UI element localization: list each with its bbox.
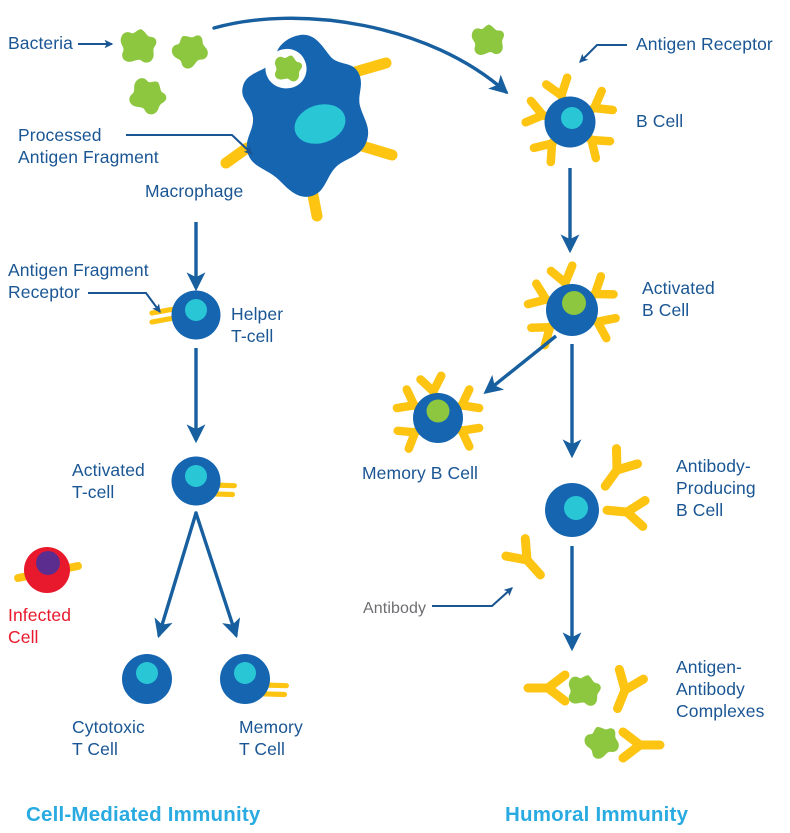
bacterium-icon [116, 25, 159, 68]
infected-cell-icon [18, 547, 78, 593]
label-cytotoxic-t-cell: Cytotoxic T Cell [72, 716, 145, 760]
label-activated-b-cell: Activated B Cell [642, 277, 715, 321]
antibody-y-icon [595, 449, 638, 494]
activated-bcell-to-memory-bcell-arrow [486, 336, 556, 392]
bacterium-icon [123, 71, 172, 120]
label-macrophage: Macrophage [145, 180, 243, 202]
label-b-cell: B Cell [636, 110, 683, 132]
antibody-y-icon [528, 675, 565, 701]
label-antibody-producing-b-cell: Antibody- Producing B Cell [676, 455, 756, 521]
label-antibody: Antibody [363, 598, 426, 620]
label-antigen-receptor: Antigen Receptor [636, 33, 773, 55]
b-cell-icon [526, 78, 613, 162]
label-activated-t-cell: Activated T-cell [72, 459, 145, 503]
label-processed-antigen-fragment: Processed Antigen Fragment [18, 124, 159, 168]
footer-humoral-immunity: Humoral Immunity [505, 803, 688, 827]
macrophage-cell-icon [226, 35, 392, 216]
activated-b-cell-icon [528, 266, 616, 346]
antibody-y-icon [605, 669, 643, 713]
bacterium-icon [168, 30, 211, 73]
antibody-pointer-arrow [432, 588, 512, 606]
immune-response-diagram: Bacteria Processed Antigen Fragment Macr… [0, 0, 790, 833]
label-memory-b-cell: Memory B Cell [362, 462, 478, 484]
antibody-y-icon [623, 732, 660, 758]
bacterium-icon [469, 22, 506, 58]
label-bacteria: Bacteria [8, 32, 73, 54]
antigen-receptor-pointer-arrow [580, 45, 627, 62]
label-antigen-fragment-receptor: Antigen Fragment Receptor [8, 259, 149, 303]
label-memory-t-cell: Memory T Cell [239, 716, 303, 760]
footer-cell-mediated-immunity: Cell-Mediated Immunity [26, 803, 261, 827]
helper-t-cell-icon [152, 291, 221, 340]
antibody-y-icon [506, 539, 550, 584]
label-antigen-antibody-complexes: Antigen- Antibody Complexes [676, 656, 764, 722]
label-infected-cell: Infected Cell [8, 604, 71, 648]
memory-b-cell-icon [397, 376, 479, 449]
label-helper-t-cell: Helper T-cell [231, 303, 283, 347]
antibody-y-icon [606, 497, 645, 526]
activated-tcell-to-cytotoxic-arrow [159, 513, 196, 635]
cytotoxic-t-cell-icon [122, 654, 172, 704]
activated-tcell-to-memory-arrow [196, 513, 236, 635]
antibody-producing-b-cell-icon [506, 449, 645, 584]
antigen-antibody-complexes-group [528, 669, 660, 761]
antigen-fragment-receptor-icon [152, 309, 174, 322]
memory-t-cell-icon [220, 654, 286, 704]
activated-t-cell-icon [172, 457, 235, 506]
bacterium-icon [582, 723, 621, 761]
